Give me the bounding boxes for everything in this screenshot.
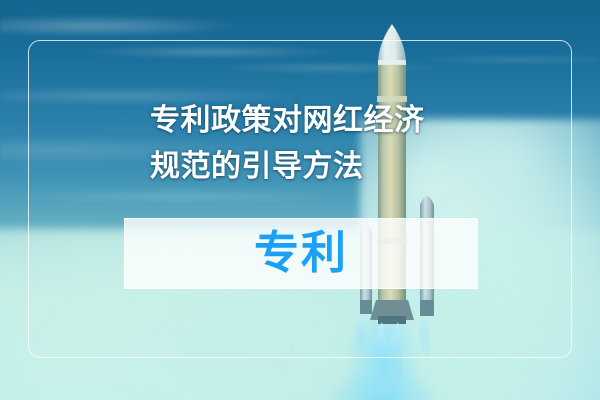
- banner-canvas: 专利政策对网红经济 规范的引导方法 专利: [0, 0, 600, 400]
- keyword-band: 专利: [124, 218, 478, 289]
- keyword-label: 专利: [254, 230, 348, 275]
- banner-content: 专利政策对网红经济 规范的引导方法 专利: [0, 0, 600, 400]
- page-title: 专利政策对网红经济 规范的引导方法: [150, 98, 490, 190]
